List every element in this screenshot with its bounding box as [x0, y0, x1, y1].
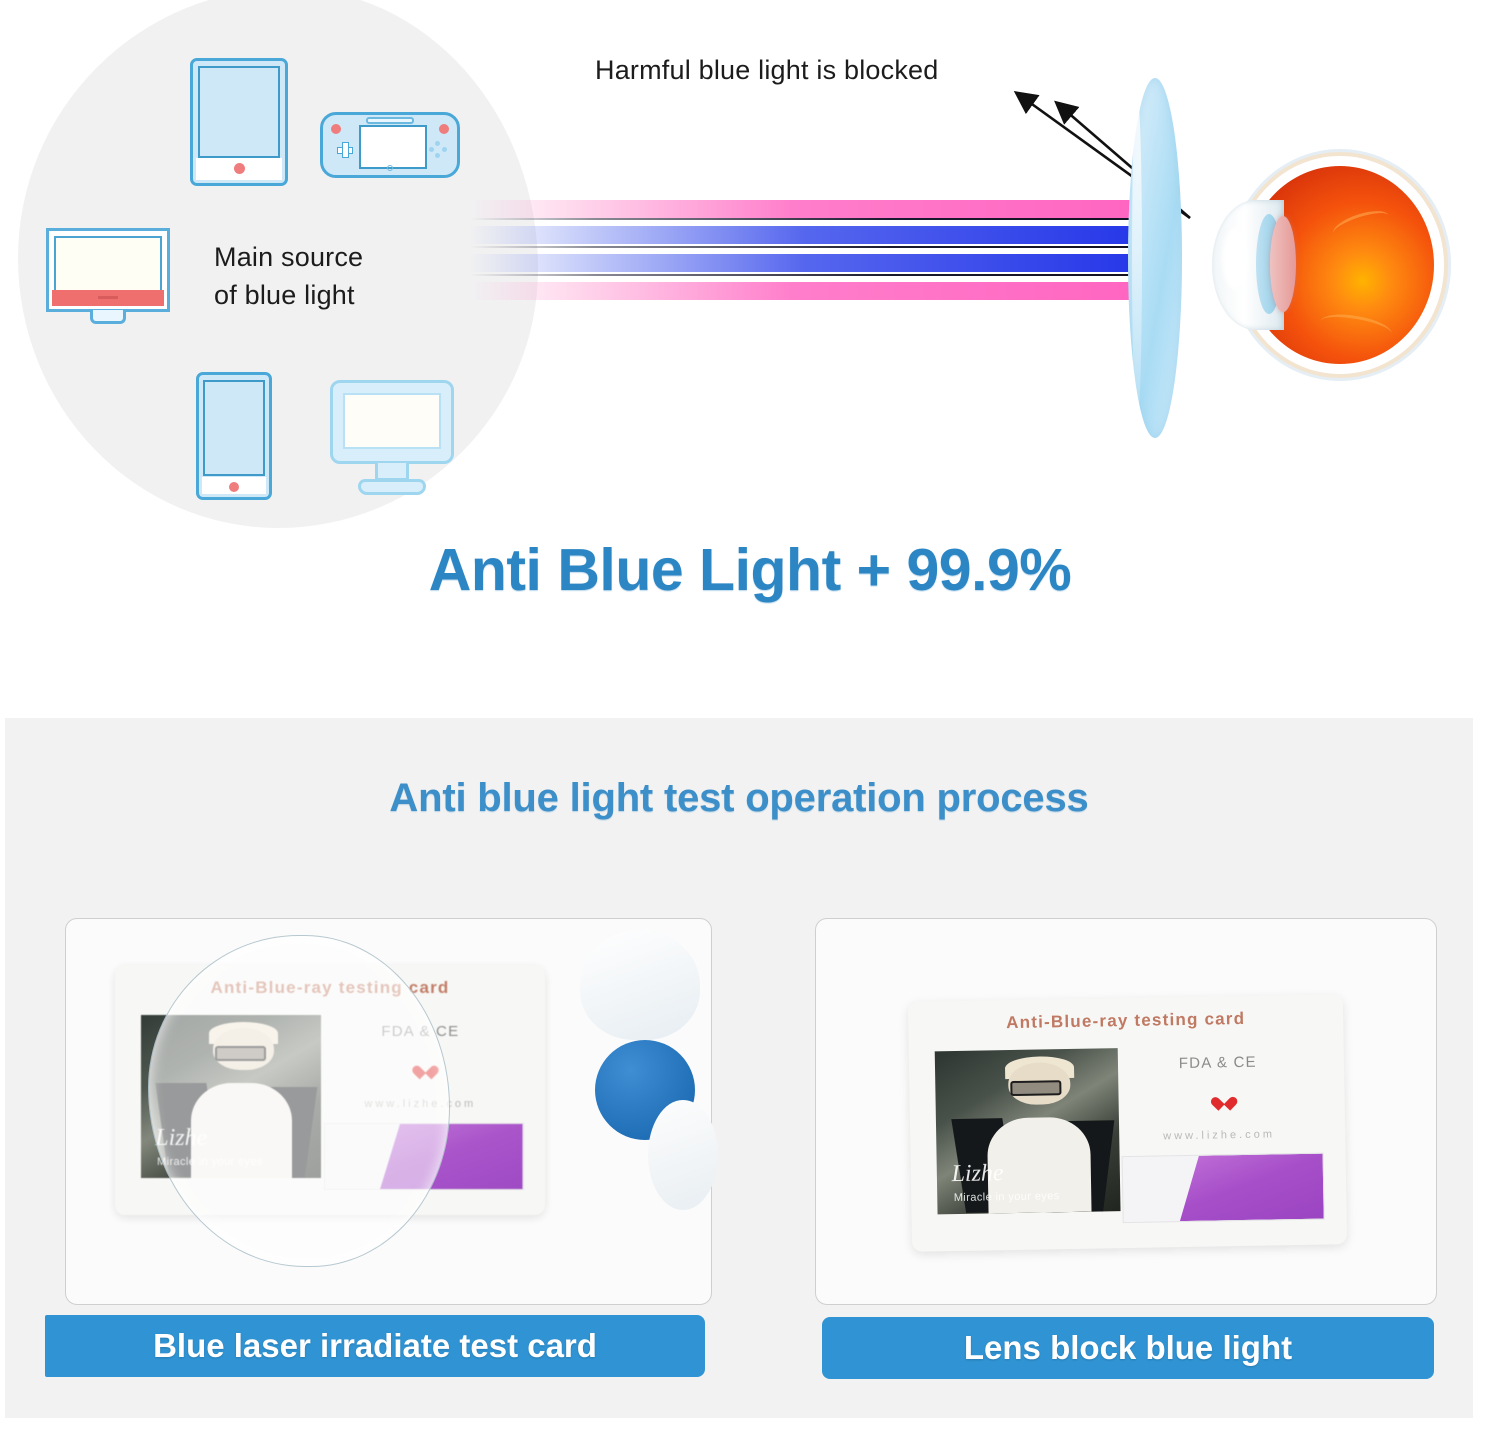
heart-icon: [1215, 1091, 1231, 1106]
desktop-screen: [343, 393, 441, 449]
main-claim-heading: Anti Blue Light + 99.9%: [0, 536, 1500, 604]
eye-lens: [1270, 216, 1296, 312]
beam-blue-lower: [470, 254, 1170, 272]
monitor-icon: [46, 228, 170, 326]
console-home-button: [387, 165, 393, 171]
card-certification: FDA & CE: [1126, 1052, 1309, 1072]
monitor-screen: [54, 236, 162, 294]
caption-right: Lens block blue light: [822, 1317, 1434, 1379]
tablet-home-button: [234, 163, 245, 174]
beam-pink-bottom: [470, 282, 1170, 300]
testing-card-right: Anti-Blue-ray testing card Lizhe Miracle…: [908, 994, 1347, 1252]
monitor-stand: [90, 310, 126, 324]
white-object-lower: [648, 1100, 718, 1210]
desktop-body: [330, 380, 454, 464]
main-source-label: Main source of blue light: [214, 238, 454, 315]
blue-light-diagram: Main source of blue light Harmful blue l…: [0, 0, 1500, 715]
card-title: Anti-Blue-ray testing card: [908, 1007, 1343, 1035]
console-left-bumper: [331, 124, 341, 134]
main-source-label-line2: of blue light: [214, 276, 454, 314]
console-screen: [359, 125, 427, 169]
console-right-bumper: [439, 124, 449, 134]
human-eye-cross-section: [1212, 156, 1444, 378]
card-website: www.lizhe.com: [1119, 1127, 1319, 1142]
ray-line-2: [470, 246, 1170, 248]
swatch-purple-area: [1179, 1154, 1324, 1222]
phone-screen: [203, 380, 265, 476]
card-test-swatch: [1122, 1153, 1325, 1224]
console-buttons: [429, 141, 447, 159]
white-object-background: [580, 930, 700, 1040]
card-photo: Lizhe Miracle in your eyes: [935, 1048, 1120, 1214]
desktop-computer-icon: [330, 380, 454, 498]
console-dpad-icon: [337, 142, 353, 158]
card-brand: Lizhe: [951, 1158, 1105, 1188]
desktop-foot: [358, 479, 426, 495]
eyeglass-lens: [1128, 78, 1182, 438]
handheld-console-icon: [320, 112, 460, 178]
process-title: Anti blue light test operation process: [5, 776, 1473, 821]
monitor-body: [46, 228, 170, 312]
phone-home-button: [229, 482, 239, 492]
harmful-blue-light-blocked-label: Harmful blue light is blocked: [595, 55, 938, 86]
ray-line-3: [470, 274, 1170, 276]
model-glasses-icon: [1010, 1080, 1062, 1096]
monitor-base-bar: [52, 290, 164, 306]
console-top-tab: [366, 117, 414, 124]
main-source-label-line1: Main source: [214, 238, 454, 276]
caption-left: Blue laser irradiate test card: [45, 1315, 705, 1377]
tablet-icon: [190, 58, 288, 186]
tablet-screen: [198, 66, 280, 158]
smartphone-icon: [196, 372, 272, 500]
